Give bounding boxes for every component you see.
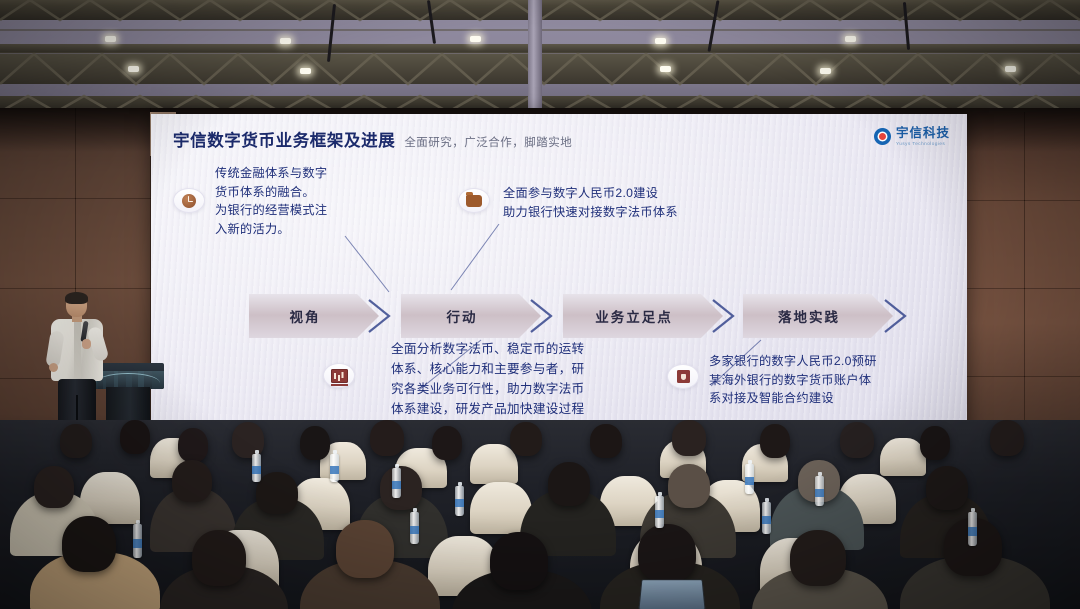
- chevron-label: 视角: [290, 306, 321, 326]
- block-icon-chart: [323, 363, 355, 388]
- block-text-business: 全面分析数字法币、稳定币的运转 体系、核心能力和主要参与者，研 究各类业务可行性…: [391, 339, 649, 420]
- chart-card-icon: [331, 369, 348, 383]
- chevron-label: 落地实践: [778, 306, 840, 326]
- chevron-step-4[interactable]: 落地实践: [743, 294, 893, 338]
- block-icon-clock: [173, 188, 205, 213]
- ceiling-truss: [0, 0, 1080, 112]
- clock-icon: [182, 194, 196, 208]
- document-icon: [677, 370, 690, 383]
- block-text-action: 全面参与数字人民币2.0建设 助力银行快速对接数字法币体系: [503, 184, 763, 221]
- block-text-implementation: 多家银行的数字人民币2.0预研 某海外银行的数字货币账户体 系对接及智能合约建设: [709, 352, 949, 408]
- projection-screen: 宇信数字货币业务框架及进展 全面研究，广泛合作，脚踏实地 宇信科技 Yusys …: [151, 114, 967, 448]
- text-line: 助力银行快速对接数字法币体系: [503, 203, 763, 222]
- text-line: 某海外银行的数字货币账户体: [709, 371, 949, 390]
- block-icon-document: [667, 364, 699, 389]
- back-wall-right: [966, 112, 1080, 464]
- chevron-step-2[interactable]: 行动: [401, 294, 541, 338]
- chevron-step-1[interactable]: 视角: [249, 294, 379, 338]
- text-line: 传统金融体系与数字: [215, 164, 395, 183]
- text-line: 入新的活力。: [215, 220, 395, 239]
- text-line: 系对接及智能合约建设: [709, 389, 949, 408]
- text-line: 为银行的经营模式注: [215, 201, 395, 220]
- presentation-slide: 宇信数字货币业务框架及进展 全面研究，广泛合作，脚踏实地 宇信科技 Yusys …: [151, 114, 967, 448]
- chevron-arrow-icon: [881, 298, 911, 334]
- chevron-step-3[interactable]: 业务立足点: [563, 294, 723, 338]
- chevron-label: 行动: [447, 306, 478, 326]
- audience: [0, 420, 1080, 609]
- chevron-arrow-icon: [527, 298, 557, 334]
- chevron-label: 业务立足点: [595, 306, 673, 326]
- folder-icon: [466, 195, 482, 207]
- laptop: [638, 579, 705, 609]
- block-text-perspective: 传统金融体系与数字 货币体系的融合。 为银行的经营模式注 入新的活力。: [215, 164, 395, 238]
- chevron-arrow-icon: [709, 298, 739, 334]
- process-chevron-row: 视角 行动 业务立足点 落地实践: [169, 294, 959, 338]
- text-line: 全面参与数字人民币2.0建设: [503, 184, 763, 203]
- chevron-arrow-icon: [365, 298, 395, 334]
- conference-photo: 宇信数字货币业务框架及进展 全面研究，广泛合作，脚踏实地 宇信科技 Yusys …: [0, 0, 1080, 609]
- text-line: 多家银行的数字人民币2.0预研: [709, 352, 949, 371]
- text-line: 体系、核心能力和主要参与者，研: [391, 359, 649, 379]
- text-line: 货币体系的融合。: [215, 183, 395, 202]
- text-line: 究各类业务可行性，助力数字法币: [391, 379, 649, 399]
- text-line: 体系建设，研发产品加快建设过程: [391, 399, 649, 419]
- text-line: 全面分析数字法币、稳定币的运转: [391, 339, 649, 359]
- block-icon-folder: [458, 188, 490, 213]
